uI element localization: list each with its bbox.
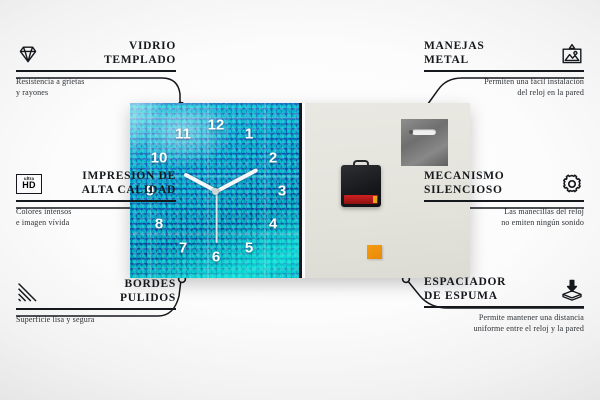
clock-numeral-11: 11 — [175, 127, 191, 142]
polished-edge-icon — [16, 280, 40, 304]
title-line-2: DE ESPUMA — [424, 290, 498, 302]
desc-line-2: no emiten ningún sonido — [501, 218, 584, 227]
battery-terminal — [373, 196, 377, 203]
clock-numeral-4: 4 — [269, 217, 277, 232]
desc-line-1: Permiten una fácil instalación — [484, 77, 584, 86]
desc-line-1: Permite mantener una distancia — [479, 313, 584, 322]
desc-line-1: Resistencia a grietas — [16, 77, 84, 86]
clock-numeral-10: 10 — [151, 151, 168, 166]
clock-numeral-7: 7 — [179, 241, 187, 256]
clock-minute-hand — [215, 168, 257, 193]
hanger-hole — [409, 130, 413, 134]
feature-espaciador-de-espuma: ESPACIADOR DE ESPUMA Permite mantener un… — [424, 276, 584, 334]
title-line-2: METAL — [424, 54, 469, 66]
title-line-2: SILENCIOSO — [424, 184, 503, 196]
feature-header: MANEJAS METAL — [424, 40, 584, 70]
title-line-1: ESPACIADOR — [424, 276, 506, 288]
clock-numeral-6: 6 — [212, 250, 220, 265]
feature-vidrio-templado: VIDRIO TEMPLADO Resistencia a grietas y … — [16, 40, 176, 98]
ultra-hd-icon: ultra HD — [16, 174, 42, 194]
feature-description: Permite mantener una distancia uniforme … — [424, 308, 584, 334]
clock-numeral-2: 2 — [269, 151, 277, 166]
foam-spacer — [367, 245, 382, 259]
title-line-2: PULIDOS — [120, 292, 176, 304]
diamond-icon — [16, 42, 40, 66]
clock-numeral-3: 3 — [278, 184, 286, 199]
clock-numeral-12: 12 — [208, 118, 225, 133]
desc-line-2: del reloj en la pared — [517, 88, 584, 97]
feature-description: Colores intensos e imagen vívida — [16, 202, 176, 228]
title-line-1: VIDRIO — [129, 40, 176, 52]
title-line-1: BORDES — [125, 278, 177, 290]
framed-picture-icon — [560, 42, 584, 66]
feature-description: Permiten una fácil instalación del reloj… — [424, 72, 584, 98]
feature-impresion-alta-calidad: ultra HD IMPRESIÓN DE ALTA CALIDAD Color… — [16, 170, 176, 228]
clock-second-hand — [216, 191, 218, 243]
feature-description: Las manecillas del reloj no emiten ningú… — [424, 202, 584, 228]
title-line-2: ALTA CALIDAD — [82, 184, 176, 196]
feature-header: MECANISMO SILENCIOSO — [424, 170, 584, 200]
title-line-1: IMPRESIÓN DE — [82, 170, 176, 182]
feature-header: ultra HD IMPRESIÓN DE ALTA CALIDAD — [16, 170, 176, 200]
title-line-1: MANEJAS — [424, 40, 485, 52]
desc-line-1: Colores intensos — [16, 207, 72, 216]
feature-title: BORDES PULIDOS — [47, 278, 176, 305]
title-line-2: TEMPLADO — [104, 54, 176, 66]
feature-title: ESPACIADOR DE ESPUMA — [424, 276, 553, 303]
feature-mecanismo-silencioso: MECANISMO SILENCIOSO Las manecillas del … — [424, 170, 584, 228]
feature-bordes-pulidos: BORDES PULIDOS Superficie lisa y segura — [16, 278, 176, 325]
desc-line-1: Las manecillas del reloj — [504, 207, 584, 216]
clock-center-pivot — [212, 188, 219, 195]
desc-line-2: y rayones — [16, 88, 48, 97]
feature-manejas-metal: MANEJAS METAL Permiten una fácil instala… — [424, 40, 584, 98]
feature-title: MECANISMO SILENCIOSO — [424, 170, 553, 197]
product-photo: 12 1 2 3 4 5 6 7 8 9 10 11 — [130, 103, 470, 278]
clock-numeral-1: 1 — [245, 127, 253, 142]
movement-hook — [353, 160, 369, 167]
foam-spacer-arrow-icon — [560, 278, 584, 302]
aa-battery — [344, 195, 378, 204]
hanger-slot — [412, 129, 436, 135]
gear-icon — [560, 172, 584, 196]
title-line-1: MECANISMO — [424, 170, 504, 182]
feature-title: MANEJAS METAL — [424, 40, 553, 67]
desc-line-2: e imagen vívida — [16, 218, 69, 227]
desc-line-1: Superficie lisa y segura — [16, 315, 94, 324]
feature-description: Resistencia a grietas y rayones — [16, 72, 176, 98]
ultra-hd-icon-main-text: HD — [22, 181, 35, 190]
infographic-canvas: 12 1 2 3 4 5 6 7 8 9 10 11 — [0, 0, 600, 400]
feature-description: Superficie lisa y segura — [16, 310, 176, 325]
metal-hanger-plate — [401, 119, 448, 166]
feature-header: VIDRIO TEMPLADO — [16, 40, 176, 70]
feature-header: BORDES PULIDOS — [16, 278, 176, 308]
desc-line-2: uniforme entre el reloj y la pared — [474, 324, 584, 333]
feature-title: VIDRIO TEMPLADO — [47, 40, 176, 67]
clock-numeral-5: 5 — [245, 241, 253, 256]
quartz-movement — [341, 165, 381, 207]
feature-header: ESPACIADOR DE ESPUMA — [424, 276, 584, 306]
feature-title: IMPRESIÓN DE ALTA CALIDAD — [49, 170, 176, 197]
